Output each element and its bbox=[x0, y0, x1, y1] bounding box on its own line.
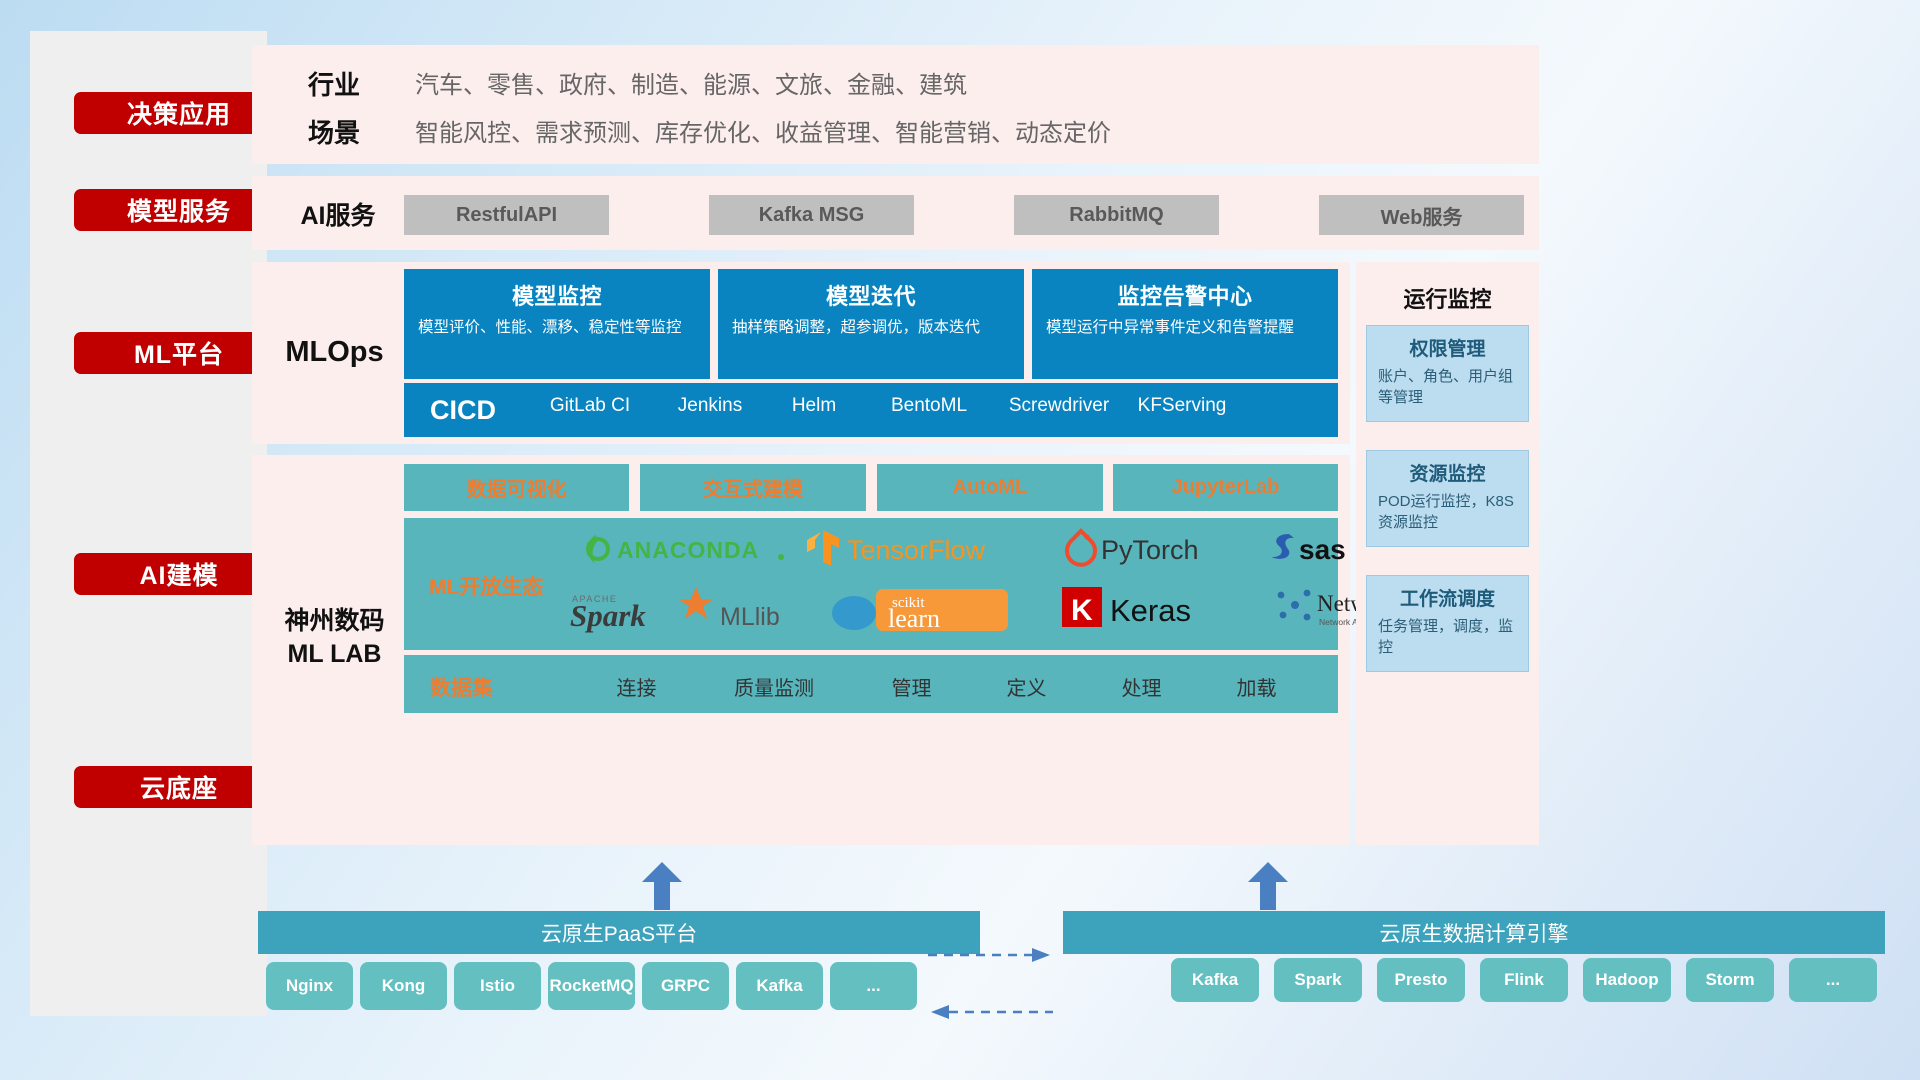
mlops-card-title: 模型迭代 bbox=[732, 279, 1010, 311]
cicd-title: CICD bbox=[404, 383, 522, 427]
monitor-card-permission[interactable]: 权限管理 账户、角色、用户组等管理 bbox=[1366, 325, 1529, 422]
svg-text:MLlib: MLlib bbox=[720, 603, 780, 631]
scenario-row-label: 场景 bbox=[288, 113, 380, 150]
logo-spark-mllib: APACHE Spark MLlib bbox=[569, 584, 809, 636]
mlops-card-desc: 抽样策略调整，超参调优，版本迭代 bbox=[732, 317, 1010, 339]
dataset-item-manage[interactable]: 管理 bbox=[859, 672, 964, 701]
lab-tab-dataviz[interactable]: 数据可视化 bbox=[404, 464, 629, 511]
chip-presto[interactable]: Presto bbox=[1377, 958, 1465, 1002]
industry-band: 行业 汽车、零售、政府、制造、能源、文旅、金融、建筑 场景 智能风控、需求预测、… bbox=[252, 45, 1539, 164]
chip-spark[interactable]: Spark bbox=[1274, 958, 1362, 1002]
chip-more-left[interactable]: ... bbox=[830, 962, 917, 1010]
scenario-row-value: 智能风控、需求预测、库存优化、收益管理、智能营销、动态定价 bbox=[415, 113, 1111, 148]
paas-bar: 云原生PaaS平台 bbox=[258, 911, 980, 954]
logo-anaconda: ANACONDA bbox=[579, 526, 789, 572]
mlops-card-title: 监控告警中心 bbox=[1046, 279, 1324, 311]
eco-label: ML开放生态 bbox=[429, 571, 543, 601]
monitor-card-title: 资源监控 bbox=[1378, 459, 1517, 486]
cicd-item-kfserving[interactable]: KFServing bbox=[1126, 383, 1238, 417]
mlops-card-monitor[interactable]: 模型监控 模型评价、性能、漂移、稳定性等监控 bbox=[404, 269, 710, 379]
dataset-item-process[interactable]: 处理 bbox=[1089, 672, 1194, 701]
logo-pytorch: PyTorch bbox=[1064, 524, 1264, 572]
eco-block: ML开放生态 ANACONDA TensorFlow bbox=[404, 518, 1338, 650]
svg-text:sas: sas bbox=[1299, 534, 1346, 565]
monitor-card-desc: POD运行监控，K8S资源监控 bbox=[1378, 491, 1517, 533]
aiservice-item-webservice[interactable]: Web服务 bbox=[1319, 195, 1524, 235]
mllab-band: 神州数码 ML LAB 数据可视化 交互式建模 AutoML JupyterLa… bbox=[252, 455, 1350, 845]
cicd-item-bentoml[interactable]: BentoML bbox=[866, 383, 992, 417]
monitor-card-desc: 账户、角色、用户组等管理 bbox=[1378, 366, 1517, 408]
mllab-label-line1: 神州数码 bbox=[262, 605, 407, 638]
chip-kafka-left[interactable]: Kafka bbox=[736, 962, 823, 1010]
mllab-label-line2: ML LAB bbox=[262, 638, 407, 671]
chip-more-right[interactable]: ... bbox=[1789, 958, 1877, 1002]
monitor-card-resource[interactable]: 资源监控 POD运行监控，K8S资源监控 bbox=[1366, 450, 1529, 547]
mllab-label: 神州数码 ML LAB bbox=[262, 605, 407, 670]
mlops-label: MLOps bbox=[262, 322, 407, 382]
dataset-item-load[interactable]: 加载 bbox=[1204, 672, 1309, 701]
monitor-title: 运行监控 bbox=[1356, 282, 1539, 314]
mlops-card-desc: 模型运行中异常事件定义和告警提醒 bbox=[1046, 317, 1324, 339]
chip-kafka-right[interactable]: Kafka bbox=[1171, 958, 1259, 1002]
svg-text:ANACONDA: ANACONDA bbox=[617, 537, 759, 563]
monitor-band: 运行监控 权限管理 账户、角色、用户组等管理 资源监控 POD运行监控，K8S资… bbox=[1356, 262, 1539, 845]
arrow-up-paas bbox=[641, 862, 683, 915]
svg-text:Keras: Keras bbox=[1110, 593, 1191, 628]
diagram-canvas: 决策应用 模型服务 ML平台 AI建模 云底座 行业 汽车、零售、政府、制造、能… bbox=[0, 0, 1920, 1080]
chip-storm[interactable]: Storm bbox=[1686, 958, 1774, 1002]
dataset-item-connect[interactable]: 连接 bbox=[584, 672, 689, 701]
industry-row-label: 行业 bbox=[288, 65, 380, 102]
monitor-card-title: 权限管理 bbox=[1378, 334, 1517, 361]
cicd-row: CICD GitLab CI Jenkins Helm BentoML Scre… bbox=[404, 383, 1338, 437]
monitor-card-workflow[interactable]: 工作流调度 任务管理，调度，监控 bbox=[1366, 575, 1529, 672]
svg-text:K: K bbox=[1071, 594, 1093, 627]
cicd-item-screwdriver[interactable]: Screwdriver bbox=[992, 383, 1126, 417]
chip-istio[interactable]: Istio bbox=[454, 962, 541, 1010]
cicd-item-jenkins[interactable]: Jenkins bbox=[658, 383, 762, 417]
chip-kong[interactable]: Kong bbox=[360, 962, 447, 1010]
logo-scikit-learn: scikit learn bbox=[829, 580, 1039, 636]
chip-rocketmq[interactable]: RocketMQ bbox=[548, 962, 635, 1010]
lab-tab-automl[interactable]: AutoML bbox=[877, 464, 1103, 511]
layer-rail: 决策应用 模型服务 ML平台 AI建模 云底座 bbox=[30, 31, 267, 1016]
arrow-left-dashed-icon bbox=[928, 1002, 1053, 1027]
dataset-item-define[interactable]: 定义 bbox=[974, 672, 1079, 701]
chip-nginx[interactable]: Nginx bbox=[266, 962, 353, 1010]
cicd-item-helm[interactable]: Helm bbox=[762, 383, 866, 417]
industry-row-value: 汽车、零售、政府、制造、能源、文旅、金融、建筑 bbox=[415, 65, 967, 100]
logo-keras: K Keras bbox=[1059, 580, 1269, 634]
lab-tab-jupyterlab[interactable]: JupyterLab bbox=[1113, 464, 1338, 511]
dataset-row: 数据集 连接 质量监测 管理 定义 处理 加载 bbox=[404, 655, 1338, 713]
svg-text:TensorFlow: TensorFlow bbox=[847, 535, 986, 565]
arrow-right-dashed-icon bbox=[928, 945, 1053, 970]
svg-text:Spark: Spark bbox=[570, 598, 646, 633]
mlops-card-alertcenter[interactable]: 监控告警中心 模型运行中异常事件定义和告警提醒 bbox=[1032, 269, 1338, 379]
chip-hadoop[interactable]: Hadoop bbox=[1583, 958, 1671, 1002]
monitor-card-title: 工作流调度 bbox=[1378, 584, 1517, 611]
logo-tensorflow: TensorFlow bbox=[804, 524, 1054, 572]
lab-tab-interactive[interactable]: 交互式建模 bbox=[640, 464, 866, 511]
svg-text:learn: learn bbox=[888, 604, 940, 633]
monitor-card-desc: 任务管理，调度，监控 bbox=[1378, 616, 1517, 658]
chip-grpc[interactable]: GRPC bbox=[642, 962, 729, 1010]
chip-flink[interactable]: Flink bbox=[1480, 958, 1568, 1002]
mlops-band: MLOps 模型监控 模型评价、性能、漂移、稳定性等监控 模型迭代 抽样策略调整… bbox=[252, 262, 1350, 444]
dataengine-bar: 云原生数据计算引擎 bbox=[1063, 911, 1885, 954]
aiservice-item-restfulapi[interactable]: RestfulAPI bbox=[404, 195, 609, 235]
mlops-card-iteration[interactable]: 模型迭代 抽样策略调整，超参调优，版本迭代 bbox=[718, 269, 1024, 379]
mlops-card-title: 模型监控 bbox=[418, 279, 696, 311]
mlops-card-desc: 模型评价、性能、漂移、稳定性等监控 bbox=[418, 317, 696, 339]
aiservice-label: AI服务 bbox=[279, 196, 397, 232]
cicd-item-gitlabci[interactable]: GitLab CI bbox=[522, 383, 658, 417]
aiservice-band: AI服务 RestfulAPI Kafka MSG RabbitMQ Web服务 bbox=[252, 176, 1539, 250]
svg-text:PyTorch: PyTorch bbox=[1101, 535, 1199, 565]
aiservice-item-rabbitmq[interactable]: RabbitMQ bbox=[1014, 195, 1219, 235]
dataset-label: 数据集 bbox=[430, 672, 493, 702]
aiservice-item-kafkamsg[interactable]: Kafka MSG bbox=[709, 195, 914, 235]
dataset-item-quality[interactable]: 质量监测 bbox=[704, 672, 844, 701]
arrow-up-dataengine bbox=[1247, 862, 1289, 915]
